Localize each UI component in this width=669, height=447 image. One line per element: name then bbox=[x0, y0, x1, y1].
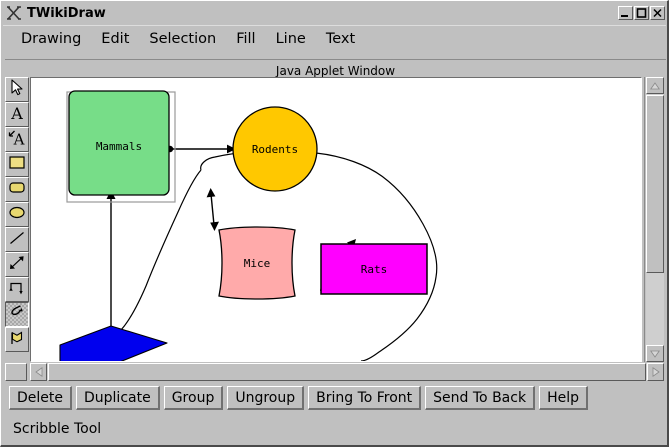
cursor-arrow-icon bbox=[9, 79, 25, 101]
elbow-connector-icon bbox=[8, 280, 26, 300]
delete-button[interactable]: Delete bbox=[9, 386, 72, 410]
line-icon bbox=[8, 230, 26, 250]
line-tool-button[interactable] bbox=[5, 227, 29, 252]
rats-label: Rats bbox=[361, 263, 388, 276]
applet-warning-text: Java Applet Window bbox=[276, 64, 395, 78]
duplicate-button[interactable]: Duplicate bbox=[76, 386, 160, 410]
bring-to-front-button[interactable]: Bring To Front bbox=[308, 386, 421, 410]
elbow-connector-tool-button[interactable] bbox=[5, 277, 29, 302]
connector-chevron-to-mammals[interactable] bbox=[107, 190, 116, 328]
rounded-rectangle-icon bbox=[8, 180, 26, 199]
polygon-flag-icon bbox=[8, 330, 26, 350]
command-button-bar: Delete Duplicate Group Ungroup Bring To … bbox=[5, 384, 666, 412]
vertical-scrollbar[interactable] bbox=[644, 77, 664, 362]
letter-a-icon: A bbox=[8, 104, 26, 126]
twikidraw-window: TWikiDraw Drawing Edit Selection Fill Li… bbox=[0, 0, 669, 447]
svg-text:A: A bbox=[10, 104, 23, 122]
shape-mice[interactable]: Mice bbox=[219, 227, 295, 299]
mice-label: Mice bbox=[244, 257, 271, 270]
letter-a-resize-icon: A bbox=[7, 129, 27, 151]
text-tool-button[interactable]: A bbox=[5, 102, 29, 127]
menu-edit[interactable]: Edit bbox=[93, 29, 137, 49]
shape-mammals[interactable]: Mammals bbox=[67, 91, 175, 202]
close-icon[interactable] bbox=[650, 6, 665, 20]
horizontal-scroll-thumb[interactable] bbox=[48, 363, 646, 381]
maximize-icon[interactable] bbox=[634, 6, 649, 20]
scroll-down-icon[interactable] bbox=[646, 345, 664, 362]
menu-text[interactable]: Text bbox=[318, 29, 363, 49]
scroll-up-icon[interactable] bbox=[646, 77, 664, 94]
window-title: TWikiDraw bbox=[27, 6, 106, 21]
help-button[interactable]: Help bbox=[539, 386, 588, 410]
send-to-back-button[interactable]: Send To Back bbox=[425, 386, 535, 410]
connector-rodents-to-mice[interactable] bbox=[207, 188, 219, 231]
shape-rodents[interactable]: Rodents bbox=[233, 107, 317, 191]
minimize-icon[interactable] bbox=[618, 6, 633, 20]
title-bar: TWikiDraw bbox=[3, 3, 666, 23]
horizontal-scrollbar[interactable] bbox=[30, 363, 664, 381]
group-button[interactable]: Group bbox=[164, 386, 224, 410]
mammals-label: Mammals bbox=[96, 140, 142, 153]
text-area-tool-button[interactable]: A bbox=[5, 127, 29, 152]
double-arrow-tool-button[interactable] bbox=[5, 252, 29, 277]
status-text: Scribble Tool bbox=[13, 421, 101, 437]
status-bar: Scribble Tool bbox=[5, 416, 666, 442]
menu-bar: Drawing Edit Selection Fill Line Text bbox=[3, 25, 666, 51]
ungroup-button[interactable]: Ungroup bbox=[227, 386, 304, 410]
vertical-scroll-thumb[interactable] bbox=[646, 95, 664, 273]
ellipse-tool-button[interactable] bbox=[5, 202, 29, 227]
menu-drawing[interactable]: Drawing bbox=[13, 29, 89, 49]
window-controls bbox=[617, 6, 665, 20]
scroll-right-icon[interactable] bbox=[647, 363, 664, 381]
double-arrow-icon bbox=[8, 255, 26, 275]
rectangle-tool-button[interactable] bbox=[5, 152, 29, 177]
scrollbar-corner-box bbox=[5, 363, 27, 381]
select-tool-button[interactable] bbox=[5, 77, 29, 102]
svg-text:A: A bbox=[13, 130, 25, 147]
drawing-canvas[interactable]: Mammals Rodents Mice Rats bbox=[30, 77, 642, 362]
shape-blue-chevron[interactable] bbox=[60, 326, 167, 361]
scribble-tool-button[interactable] bbox=[5, 302, 29, 327]
rodents-label: Rodents bbox=[252, 143, 298, 156]
shape-rats[interactable]: Rats bbox=[321, 244, 427, 294]
connector-mammals-to-rodents[interactable] bbox=[167, 145, 236, 154]
x-logo-icon bbox=[5, 4, 23, 22]
rounded-rectangle-tool-button[interactable] bbox=[5, 177, 29, 202]
scribble-icon bbox=[8, 304, 26, 325]
menu-selection[interactable]: Selection bbox=[141, 29, 224, 49]
menu-line[interactable]: Line bbox=[268, 29, 314, 49]
rectangle-icon bbox=[8, 155, 26, 174]
scroll-left-icon[interactable] bbox=[30, 363, 47, 381]
applet-warning-banner: Java Applet Window bbox=[5, 59, 666, 76]
menu-fill[interactable]: Fill bbox=[228, 29, 263, 49]
ellipse-icon bbox=[8, 205, 26, 224]
tool-palette: A A bbox=[5, 77, 29, 352]
polygon-tool-button[interactable] bbox=[5, 327, 29, 352]
